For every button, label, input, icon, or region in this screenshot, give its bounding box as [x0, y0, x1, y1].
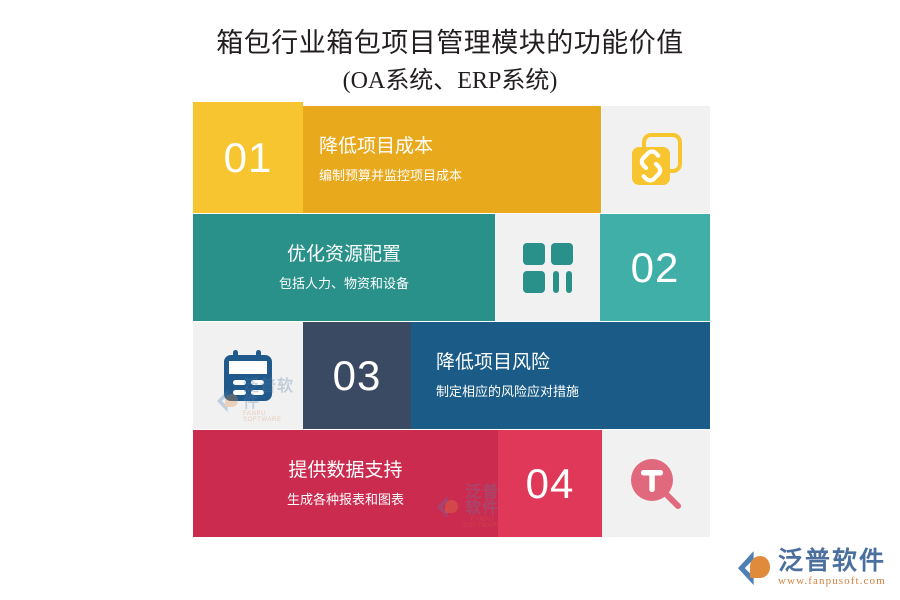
page-title-line-2: (OA系统、ERP系统) [0, 62, 900, 100]
number-label-04: 04 [526, 460, 575, 508]
dashboard-grid-icon [520, 240, 576, 296]
watermark-en: FANPU SOFTWARE [243, 411, 303, 423]
number-label-01: 01 [224, 134, 273, 182]
text-search-icon [627, 455, 685, 513]
icon-panel-04 [602, 430, 710, 537]
item-desc-01: 编制预算并监控项目成本 [319, 167, 462, 185]
info-row-03[interactable]: 泛普软件 FANPU SOFTWARE 03 降低项目风险 制定相应的风险应对措… [193, 322, 710, 429]
link-icon [627, 131, 685, 189]
number-label-02: 02 [631, 244, 680, 292]
page-title-line-1: 箱包行业箱包项目管理模块的功能价值 [0, 24, 900, 62]
icon-panel-01 [602, 106, 710, 213]
watermark-logo-2: 泛普软件 FANPU SOFTWARE [437, 485, 502, 529]
item-title-02: 优化资源配置 [287, 242, 401, 268]
number-badge-03: 03 [303, 322, 411, 429]
number-label-03: 03 [333, 352, 382, 400]
content-panel-03: 降低项目风险 制定相应的风险应对措施 [411, 322, 710, 429]
brand-logo-url: www.fanpusoft.com [778, 576, 886, 588]
brand-logo-name: 泛普软件 [778, 548, 886, 574]
page-title: 箱包行业箱包项目管理模块的功能价值 (OA系统、ERP系统) [0, 24, 900, 100]
number-badge-02: 02 [600, 214, 710, 321]
watermark-en-2: FANPU SOFTWARE [463, 517, 502, 529]
watermark-mark-icon-2 [437, 496, 459, 518]
item-title-01: 降低项目成本 [319, 134, 433, 160]
brand-logo-mark-icon [738, 551, 772, 585]
item-title-03: 降低项目风险 [436, 350, 550, 376]
calendar-icon [220, 348, 276, 404]
item-desc-04: 生成各种报表和图表 [287, 491, 404, 509]
item-desc-03: 制定相应的风险应对措施 [436, 383, 579, 401]
number-badge-01: 01 [193, 102, 303, 213]
info-row-02[interactable]: 优化资源配置 包括人力、物资和设备 02 [193, 214, 710, 321]
info-row-04[interactable]: 提供数据支持 生成各种报表和图表 泛普软件 FANPU SOFTWARE 04 [193, 430, 710, 537]
icon-panel-02 [495, 214, 600, 321]
content-panel-01: 降低项目成本 编制预算并监控项目成本 [303, 106, 601, 213]
item-title-04: 提供数据支持 [288, 458, 402, 484]
number-badge-04: 04 [498, 430, 602, 537]
content-panel-02: 优化资源配置 包括人力、物资和设备 [193, 214, 495, 321]
content-panel-04: 提供数据支持 生成各种报表和图表 泛普软件 FANPU SOFTWARE [193, 430, 498, 537]
infographic: 01 降低项目成本 编制预算并监控项目成本 优化资源配置 包括人力、 [193, 106, 710, 538]
brand-logo: 泛普软件 www.fanpusoft.com [738, 548, 886, 588]
watermark-cn-2: 泛普软件 [463, 485, 502, 517]
icon-panel-03: 泛普软件 FANPU SOFTWARE [193, 322, 303, 429]
info-row-01[interactable]: 01 降低项目成本 编制预算并监控项目成本 [193, 106, 710, 213]
item-desc-02: 包括人力、物资和设备 [279, 275, 409, 293]
